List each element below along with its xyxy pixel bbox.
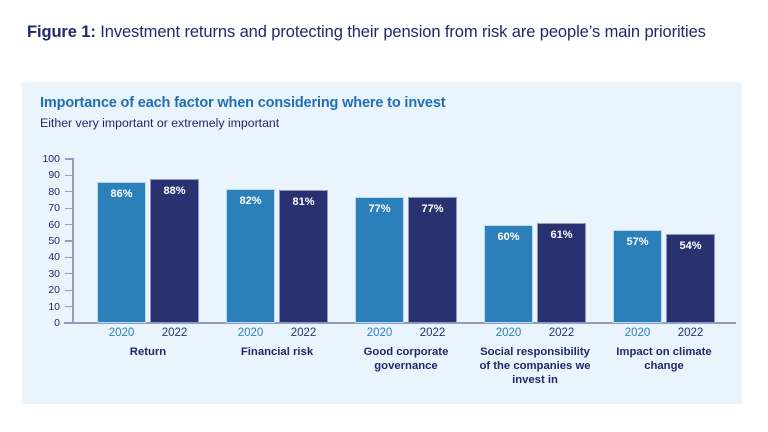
category-label-5: Impact on climatechange xyxy=(605,345,723,373)
x-axis-year-label-2022: 2022 xyxy=(666,327,715,339)
bar-value-label: 86% xyxy=(98,188,145,200)
x-axis-year-label-2020: 2020 xyxy=(226,327,275,339)
bar-2022-3[interactable]: 77% xyxy=(408,197,457,323)
bar-2020-5[interactable]: 57% xyxy=(613,230,662,323)
bar-value-label: 77% xyxy=(356,203,403,215)
bar-value-label: 82% xyxy=(227,195,274,207)
chart-panel: Importance of each factor when consideri… xyxy=(22,82,742,404)
category-label-line: invest in xyxy=(476,373,594,387)
x-axis-year-label-2020: 2020 xyxy=(484,327,533,339)
category-label-line: change xyxy=(605,359,723,373)
bar-2020-3[interactable]: 77% xyxy=(355,197,404,323)
category-label-4: Social responsibilityof the companies we… xyxy=(476,345,594,387)
category-label-line: Good corporate xyxy=(347,345,465,359)
x-axis-year-label-2020: 2020 xyxy=(355,327,404,339)
bar-value-label: 77% xyxy=(409,203,456,215)
bar-value-label: 57% xyxy=(614,236,661,248)
bar-2020-1[interactable]: 86% xyxy=(97,182,146,323)
plot-area: 0102030405060708090100 86%88%82%81%77%77… xyxy=(22,82,742,404)
category-label-line: Financial risk xyxy=(218,345,336,359)
category-label-1: Return xyxy=(89,345,207,359)
category-label-line: Social responsibility xyxy=(476,345,594,359)
bar-value-label: 60% xyxy=(485,231,532,243)
x-axis-year-label-2022: 2022 xyxy=(279,327,328,339)
bar-value-label: 54% xyxy=(667,240,714,252)
category-label-line: Return xyxy=(89,345,207,359)
figure-number-label: Figure 1: xyxy=(27,23,96,41)
category-label-2: Financial risk xyxy=(218,345,336,359)
x-axis-year-label-2022: 2022 xyxy=(150,327,199,339)
bar-value-label: 61% xyxy=(538,229,585,241)
bar-2022-2[interactable]: 81% xyxy=(279,190,328,323)
x-axis-year-label-2020: 2020 xyxy=(97,327,146,339)
bar-2020-4[interactable]: 60% xyxy=(484,225,533,323)
figure-caption: Figure 1: Investment returns and protect… xyxy=(27,20,727,45)
x-axis-year-label-2022: 2022 xyxy=(408,327,457,339)
bar-2022-4[interactable]: 61% xyxy=(537,223,586,323)
figure-root: Figure 1: Investment returns and protect… xyxy=(0,0,768,432)
figure-caption-text: Investment returns and protecting their … xyxy=(96,23,706,41)
category-label-line: governance xyxy=(347,359,465,373)
category-label-line: of the companies we xyxy=(476,359,594,373)
category-label-line: Impact on climate xyxy=(605,345,723,359)
bar-2022-1[interactable]: 88% xyxy=(150,179,199,323)
bar-value-label: 81% xyxy=(280,196,327,208)
bar-value-label: 88% xyxy=(151,185,198,197)
bar-2020-2[interactable]: 82% xyxy=(226,189,275,323)
x-axis-year-label-2020: 2020 xyxy=(613,327,662,339)
category-label-3: Good corporategovernance xyxy=(347,345,465,373)
bar-2022-5[interactable]: 54% xyxy=(666,234,715,323)
x-axis-year-label-2022: 2022 xyxy=(537,327,586,339)
